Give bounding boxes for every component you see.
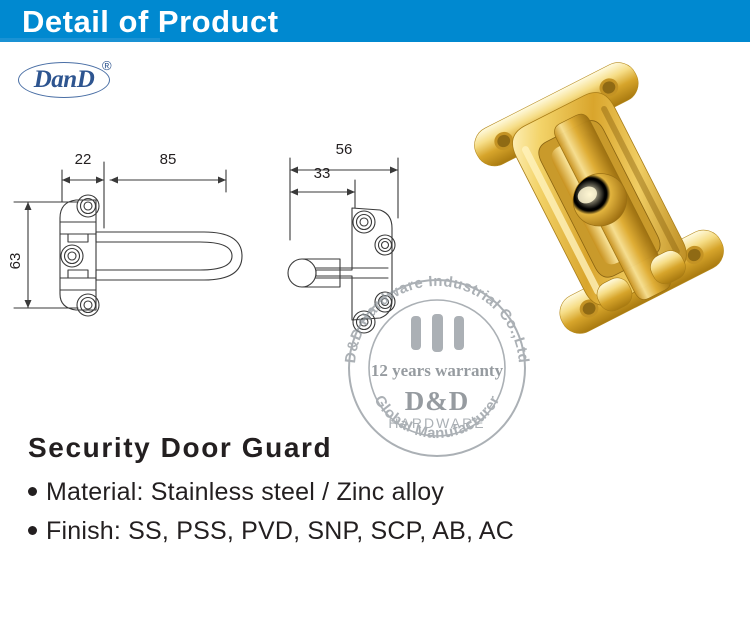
watermark-seal: D&D Hardware Industrial Co.,Ltd Global M… bbox=[337, 268, 537, 468]
seal-brand-text: D&D bbox=[405, 386, 470, 416]
product-name-title: Security Door Guard bbox=[28, 432, 332, 464]
bullet-icon bbox=[28, 487, 37, 496]
logo-wordmark: DanD bbox=[18, 62, 110, 98]
registered-trademark-icon: ® bbox=[102, 58, 112, 73]
dimension-label-63: 63 bbox=[7, 253, 24, 270]
list-item: Finish: SS, PSS, PVD, SNP, SCP, AB, AC bbox=[28, 517, 728, 546]
seal-warranty-text: 12 years warranty bbox=[371, 361, 504, 380]
spec-material-text: Material: Stainless steel / Zinc alloy bbox=[46, 478, 444, 507]
dimension-label-33: 33 bbox=[314, 165, 331, 182]
dimension-label-56: 56 bbox=[336, 141, 353, 158]
product-spec-list: Material: Stainless steel / Zinc alloy F… bbox=[28, 478, 728, 556]
page-title: Detail of Product bbox=[22, 2, 279, 42]
list-item: Material: Stainless steel / Zinc alloy bbox=[28, 478, 728, 507]
spec-finish-text: Finish: SS, PSS, PVD, SNP, SCP, AB, AC bbox=[46, 517, 514, 546]
seal-brand-sub-text: HARDWARE bbox=[388, 415, 485, 431]
seal-center-glyph bbox=[411, 314, 464, 352]
brand-logo: DanD ® bbox=[18, 58, 138, 102]
dimension-label-22: 22 bbox=[75, 151, 92, 168]
bullet-icon bbox=[28, 526, 37, 535]
dimension-label-85: 85 bbox=[160, 151, 177, 168]
